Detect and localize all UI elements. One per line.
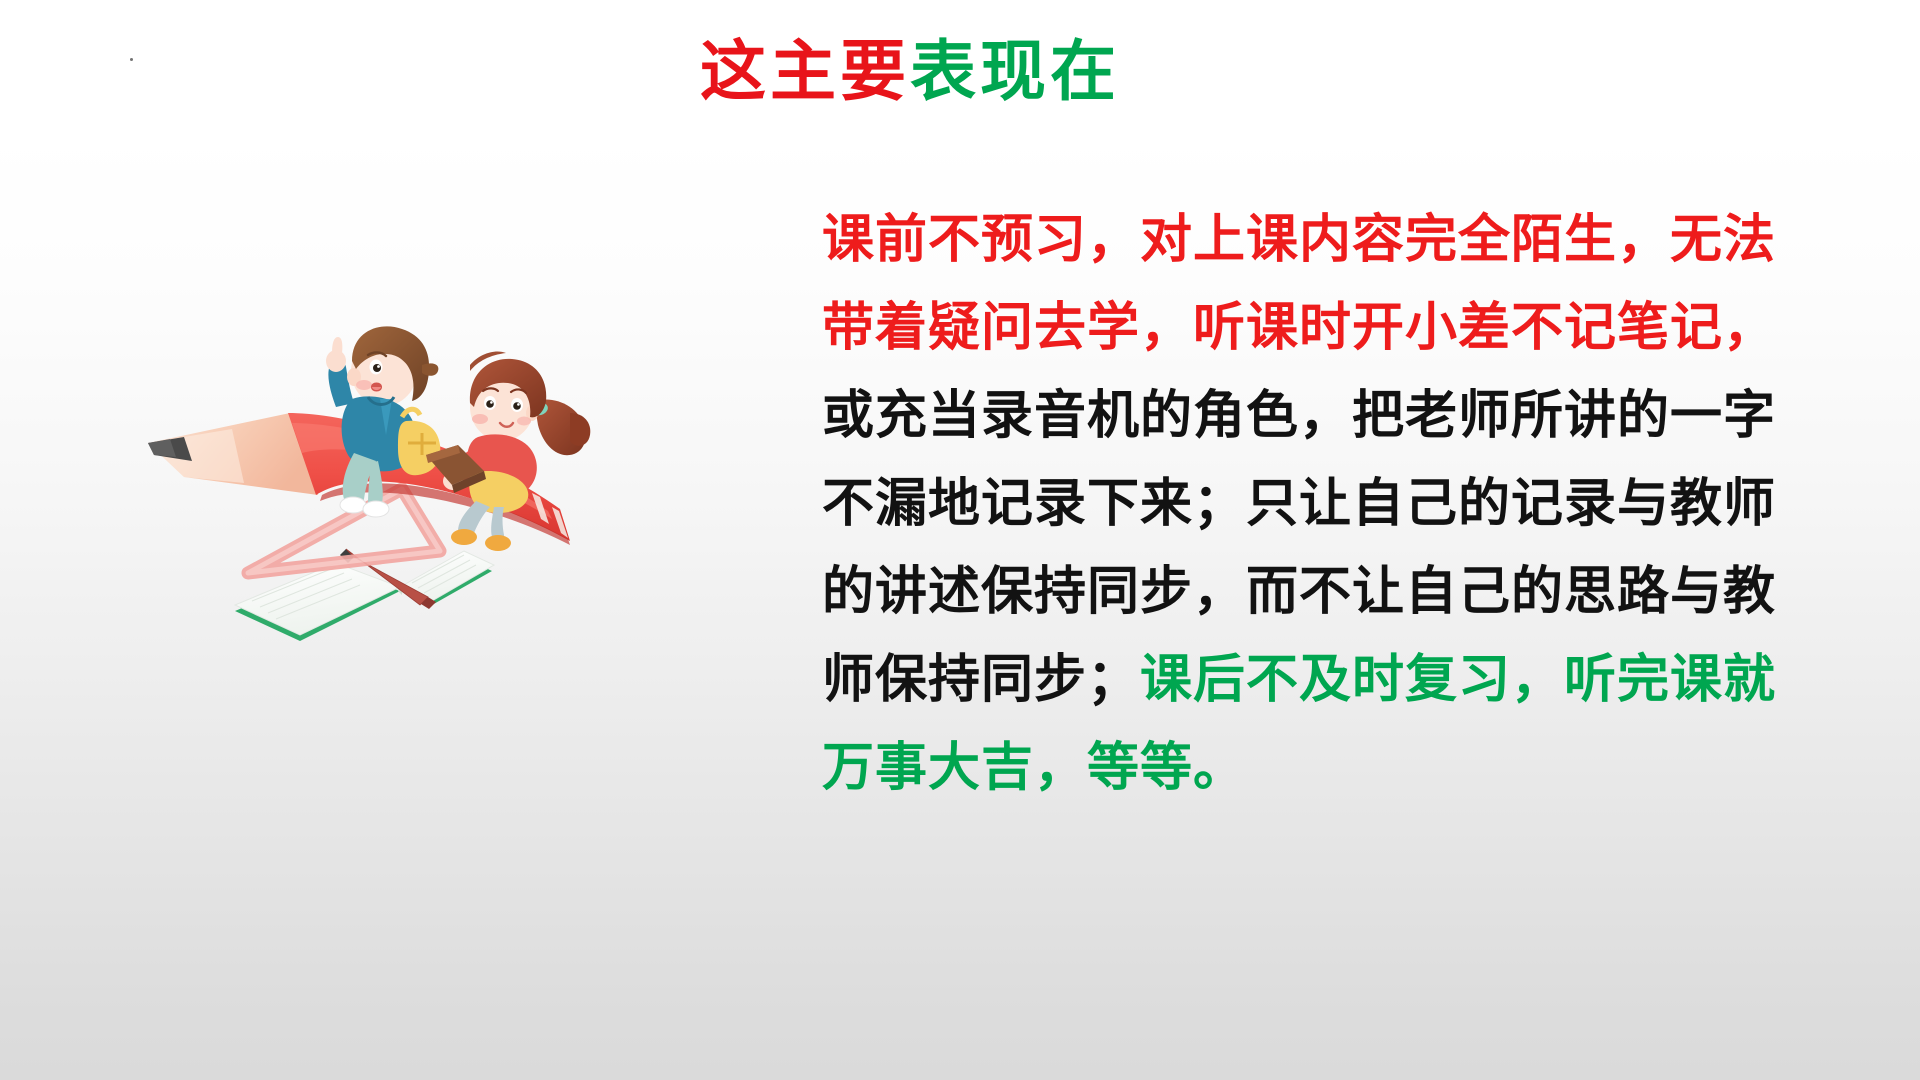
illustration-children-on-pencil: [140, 295, 610, 695]
artifact-speck: [130, 58, 133, 61]
page-title-segment-green: 表现在: [910, 33, 1120, 110]
girl-character: [426, 352, 590, 552]
page-title: 这主要表现在: [700, 34, 1120, 110]
body-line-6-segment-1: 师保持同步；: [822, 650, 1140, 710]
body-line-7: 万事大吉，等等。: [822, 724, 1842, 812]
body-line-4: 不漏地记录下来；只让自己的记录与教师: [822, 460, 1842, 548]
body-line-6: 师保持同步；课后不及时复习，听完课就: [822, 636, 1842, 724]
body-line-3-segment-1: 或充当录音机的角色，把老师所讲的一字: [822, 386, 1776, 446]
body-line-5-segment-1: 的讲述保持同步，而不让自己的思路与教: [822, 562, 1776, 622]
body-line-5: 的讲述保持同步，而不让自己的思路与教: [822, 548, 1842, 636]
body-line-1: 课前不预习，对上课内容完全陌生，无法: [822, 196, 1842, 284]
body-line-2: 带着疑问去学，听课时开小差不记笔记，: [822, 284, 1842, 372]
page-title-segment-red: 这主要: [700, 33, 910, 110]
body-paragraph: 课前不预习，对上课内容完全陌生，无法 带着疑问去学，听课时开小差不记笔记， 或充…: [822, 196, 1842, 812]
body-line-4-segment-1: 不漏地记录下来；只让自己的记录与教师: [822, 474, 1776, 534]
slide-canvas: 这主要表现在 课前不预习，对上课内容完全陌生，无法 带着疑问去学，听课时开小差不…: [0, 0, 1920, 1080]
body-line-7-segment-1: 万事大吉，等等。: [822, 738, 1246, 798]
body-line-2-segment-1: 带着疑问去学，听课时开小差不记笔记，: [822, 298, 1776, 358]
body-line-6-segment-2: 课后不及时复习，听完课就: [1140, 650, 1776, 710]
body-line-3: 或充当录音机的角色，把老师所讲的一字: [822, 372, 1842, 460]
body-line-1-segment-1: 课前不预习，对上课内容完全陌生，无法: [822, 210, 1776, 270]
